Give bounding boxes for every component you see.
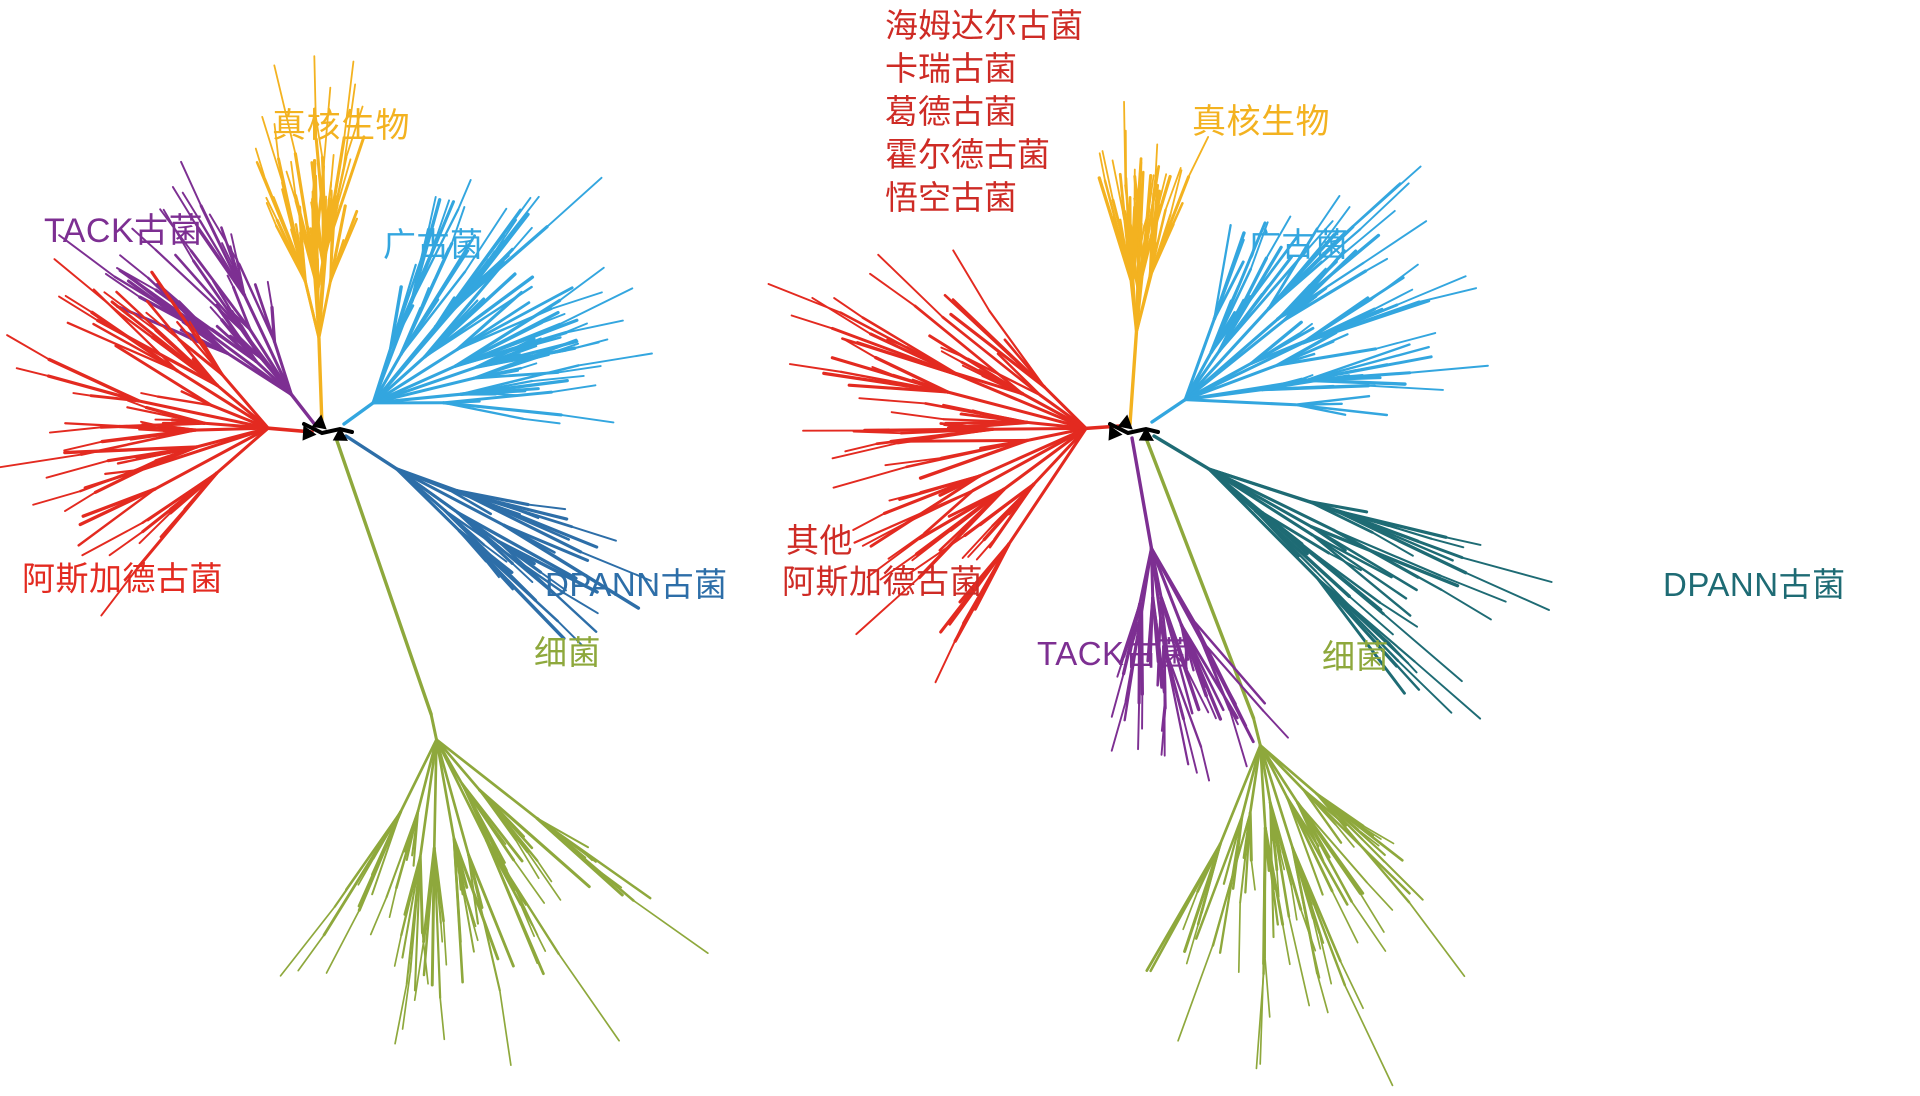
label-dpann-right-cn: 古菌: [1779, 568, 1846, 604]
tree-right-svg: [960, 0, 1920, 1096]
label-euryarchaeota: 广古菌: [383, 228, 484, 265]
label-other-asgard-line2: 阿斯加德古菌: [782, 565, 983, 602]
label-dpann-right: DPANN古菌: [1663, 567, 1846, 605]
label-tack-latin: TACK: [44, 212, 134, 250]
label-other-asgard-line1: 其他: [786, 524, 853, 561]
clade-eukaryotes-right: [1099, 102, 1208, 424]
label-tack-cn: 古菌: [134, 213, 203, 250]
clade-tack-right: [1112, 438, 1288, 780]
figure-canvas: 真核生物 TACK古菌 广古菌 阿斯加德古菌 DPANN古菌 细菌 海姆达尔古菌…: [0, 0, 1920, 1096]
clade-euryarchaeota-right: [1152, 167, 1488, 422]
asgard-subgroup-list: 海姆达尔古菌卡瑞古菌葛德古菌霍尔德古菌悟空古菌: [885, 6, 1083, 220]
asgard-subgroup-item: 卡瑞古菌: [885, 49, 1083, 92]
asgard-subgroup-item: 悟空古菌: [885, 178, 1083, 221]
label-dpann-right-latin: DPANN: [1663, 566, 1779, 603]
root-node-left: [296, 414, 352, 447]
label-eukaryotes: 真核生物: [272, 108, 410, 146]
label-asgard: 阿斯加德古菌: [22, 562, 223, 599]
asgard-subgroup-item: 霍尔德古菌: [885, 135, 1083, 178]
label-tack-right: TACK古菌: [1037, 636, 1192, 674]
label-dpann-cn: 古菌: [661, 568, 728, 604]
label-dpann: DPANN古菌: [545, 567, 728, 605]
tree-right-panel: [960, 0, 1920, 1096]
label-eukaryotes-right: 真核生物: [1192, 104, 1330, 142]
asgard-subgroup-item: 葛德古菌: [885, 92, 1083, 135]
clade-dpann-left: [346, 436, 651, 645]
clade-euryarchaeota-left: [344, 178, 652, 424]
label-bacteria: 细菌: [534, 636, 601, 673]
label-tack-right-cn: 古菌: [1125, 637, 1192, 673]
label-bacteria-right: 细菌: [1322, 640, 1389, 677]
label-tack: TACK古菌: [44, 212, 203, 251]
label-euryarchaeota-right: 广古菌: [1248, 228, 1349, 265]
label-tack-right-latin: TACK: [1037, 635, 1125, 672]
asgard-subgroup-item: 海姆达尔古菌: [885, 6, 1083, 49]
label-dpann-latin: DPANN: [545, 566, 661, 603]
